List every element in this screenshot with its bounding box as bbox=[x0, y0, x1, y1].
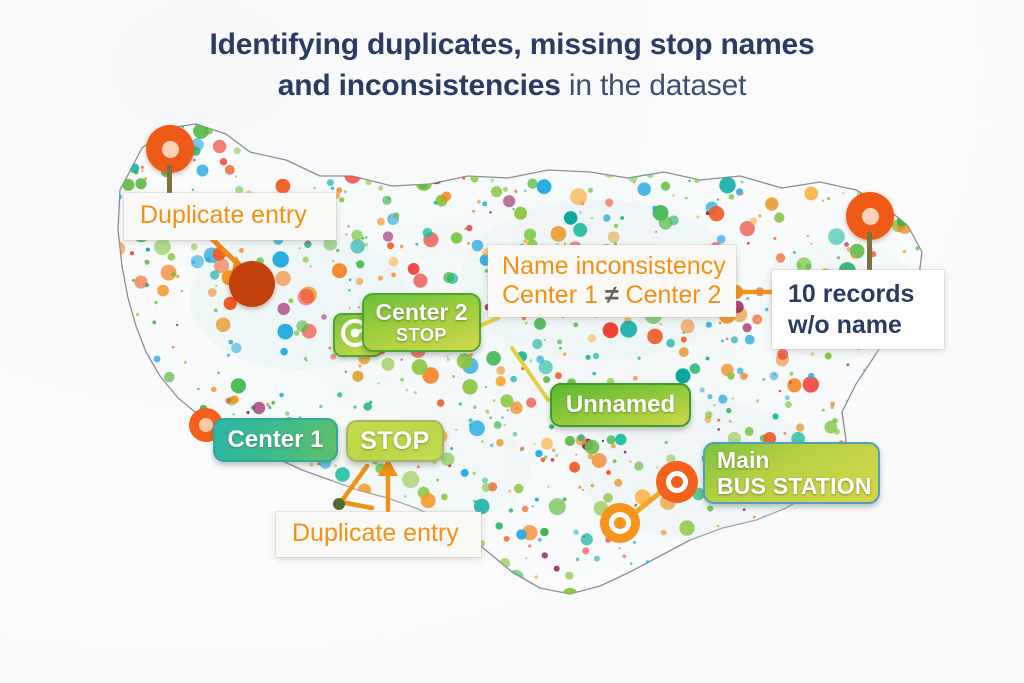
ring-bus-station-b[interactable] bbox=[656, 461, 698, 503]
badge-unnamed[interactable]: Unnamed bbox=[550, 383, 691, 427]
callout-duplicate-entry-top[interactable]: Duplicate entry bbox=[124, 193, 336, 240]
infographic-canvas: Identifying duplicates, missing stop nam… bbox=[0, 0, 1024, 683]
ring-bus-station-a[interactable] bbox=[600, 503, 640, 543]
callout-name-inconsistency-line1: Name inconsistency bbox=[502, 252, 722, 281]
not-equal-icon: ≠ bbox=[605, 281, 619, 309]
callout-records-without-name[interactable]: 10 records w/o name bbox=[772, 270, 944, 349]
badge-center-1[interactable]: Center 1 bbox=[213, 418, 338, 462]
callout-records-line1: 10 records bbox=[788, 279, 928, 310]
callout-duplicate-entry-top-label: Duplicate entry bbox=[140, 201, 320, 230]
callout-duplicate-entry-bottom-label: Duplicate entry bbox=[292, 519, 465, 548]
dot-duplicate-northwest[interactable] bbox=[229, 261, 275, 307]
badge-unnamed-label: Unnamed bbox=[552, 391, 689, 419]
badge-center-2-line2: STOP bbox=[364, 325, 479, 346]
callout-records-line2: w/o name bbox=[788, 310, 928, 341]
badge-center-2-line1: Center 2 bbox=[364, 300, 479, 325]
badge-main-line1: Main bbox=[717, 447, 769, 473]
callout-duplicate-entry-bottom[interactable]: Duplicate entry bbox=[276, 512, 481, 557]
pin-northwest[interactable] bbox=[146, 125, 194, 203]
badge-main-line2: BUS STATION bbox=[717, 473, 872, 500]
badge-stop[interactable]: STOP bbox=[346, 420, 444, 462]
pin-northeast[interactable] bbox=[846, 192, 894, 272]
badge-main-bus-station[interactable]: Main BUS STATION bbox=[703, 442, 880, 504]
badge-center-2[interactable]: Center 2 STOP bbox=[362, 293, 481, 352]
callout-name-inconsistency-line2: Center 1 ≠ Center 2 bbox=[502, 281, 722, 310]
name-b: Center 2 bbox=[619, 281, 722, 309]
badge-center-1-label: Center 1 bbox=[215, 426, 336, 454]
badge-stop-label: STOP bbox=[348, 427, 442, 456]
name-a: Center 1 bbox=[502, 281, 605, 309]
callout-name-inconsistency[interactable]: Name inconsistency Center 1 ≠ Center 2 bbox=[488, 245, 736, 317]
